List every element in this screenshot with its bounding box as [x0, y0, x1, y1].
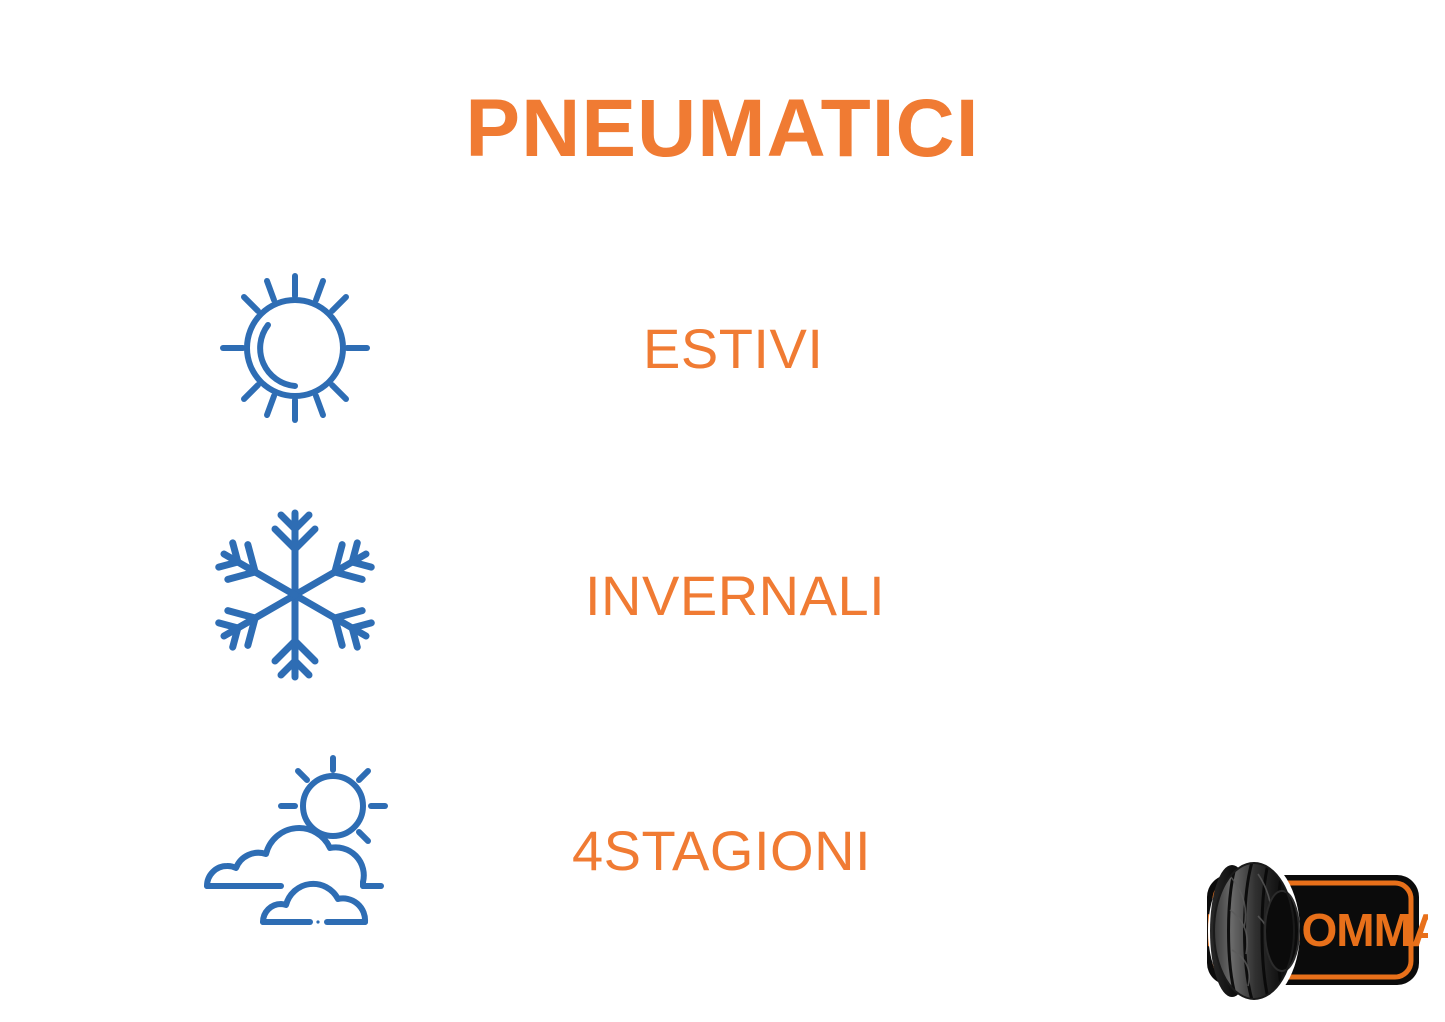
regomma-logo: REGOMMA [1196, 858, 1428, 1004]
tire-type-row-invernali: INVERNALI [0, 495, 1445, 695]
tire-type-row-estivi: ESTIVI [0, 248, 1445, 448]
sun-behind-clouds-icon [195, 750, 405, 950]
page-title: PNEUMATICI [0, 88, 1445, 170]
page-root: PNEUMATICI [0, 0, 1445, 1022]
snowflake-icon [195, 495, 405, 695]
tire-type-label-4stagioni: 4STAGIONI [572, 750, 871, 950]
tire-type-label-invernali: INVERNALI [585, 495, 885, 695]
sun-icon [195, 248, 405, 448]
tire-icon [1208, 858, 1300, 1004]
tire-type-label-estivi: ESTIVI [643, 248, 823, 448]
